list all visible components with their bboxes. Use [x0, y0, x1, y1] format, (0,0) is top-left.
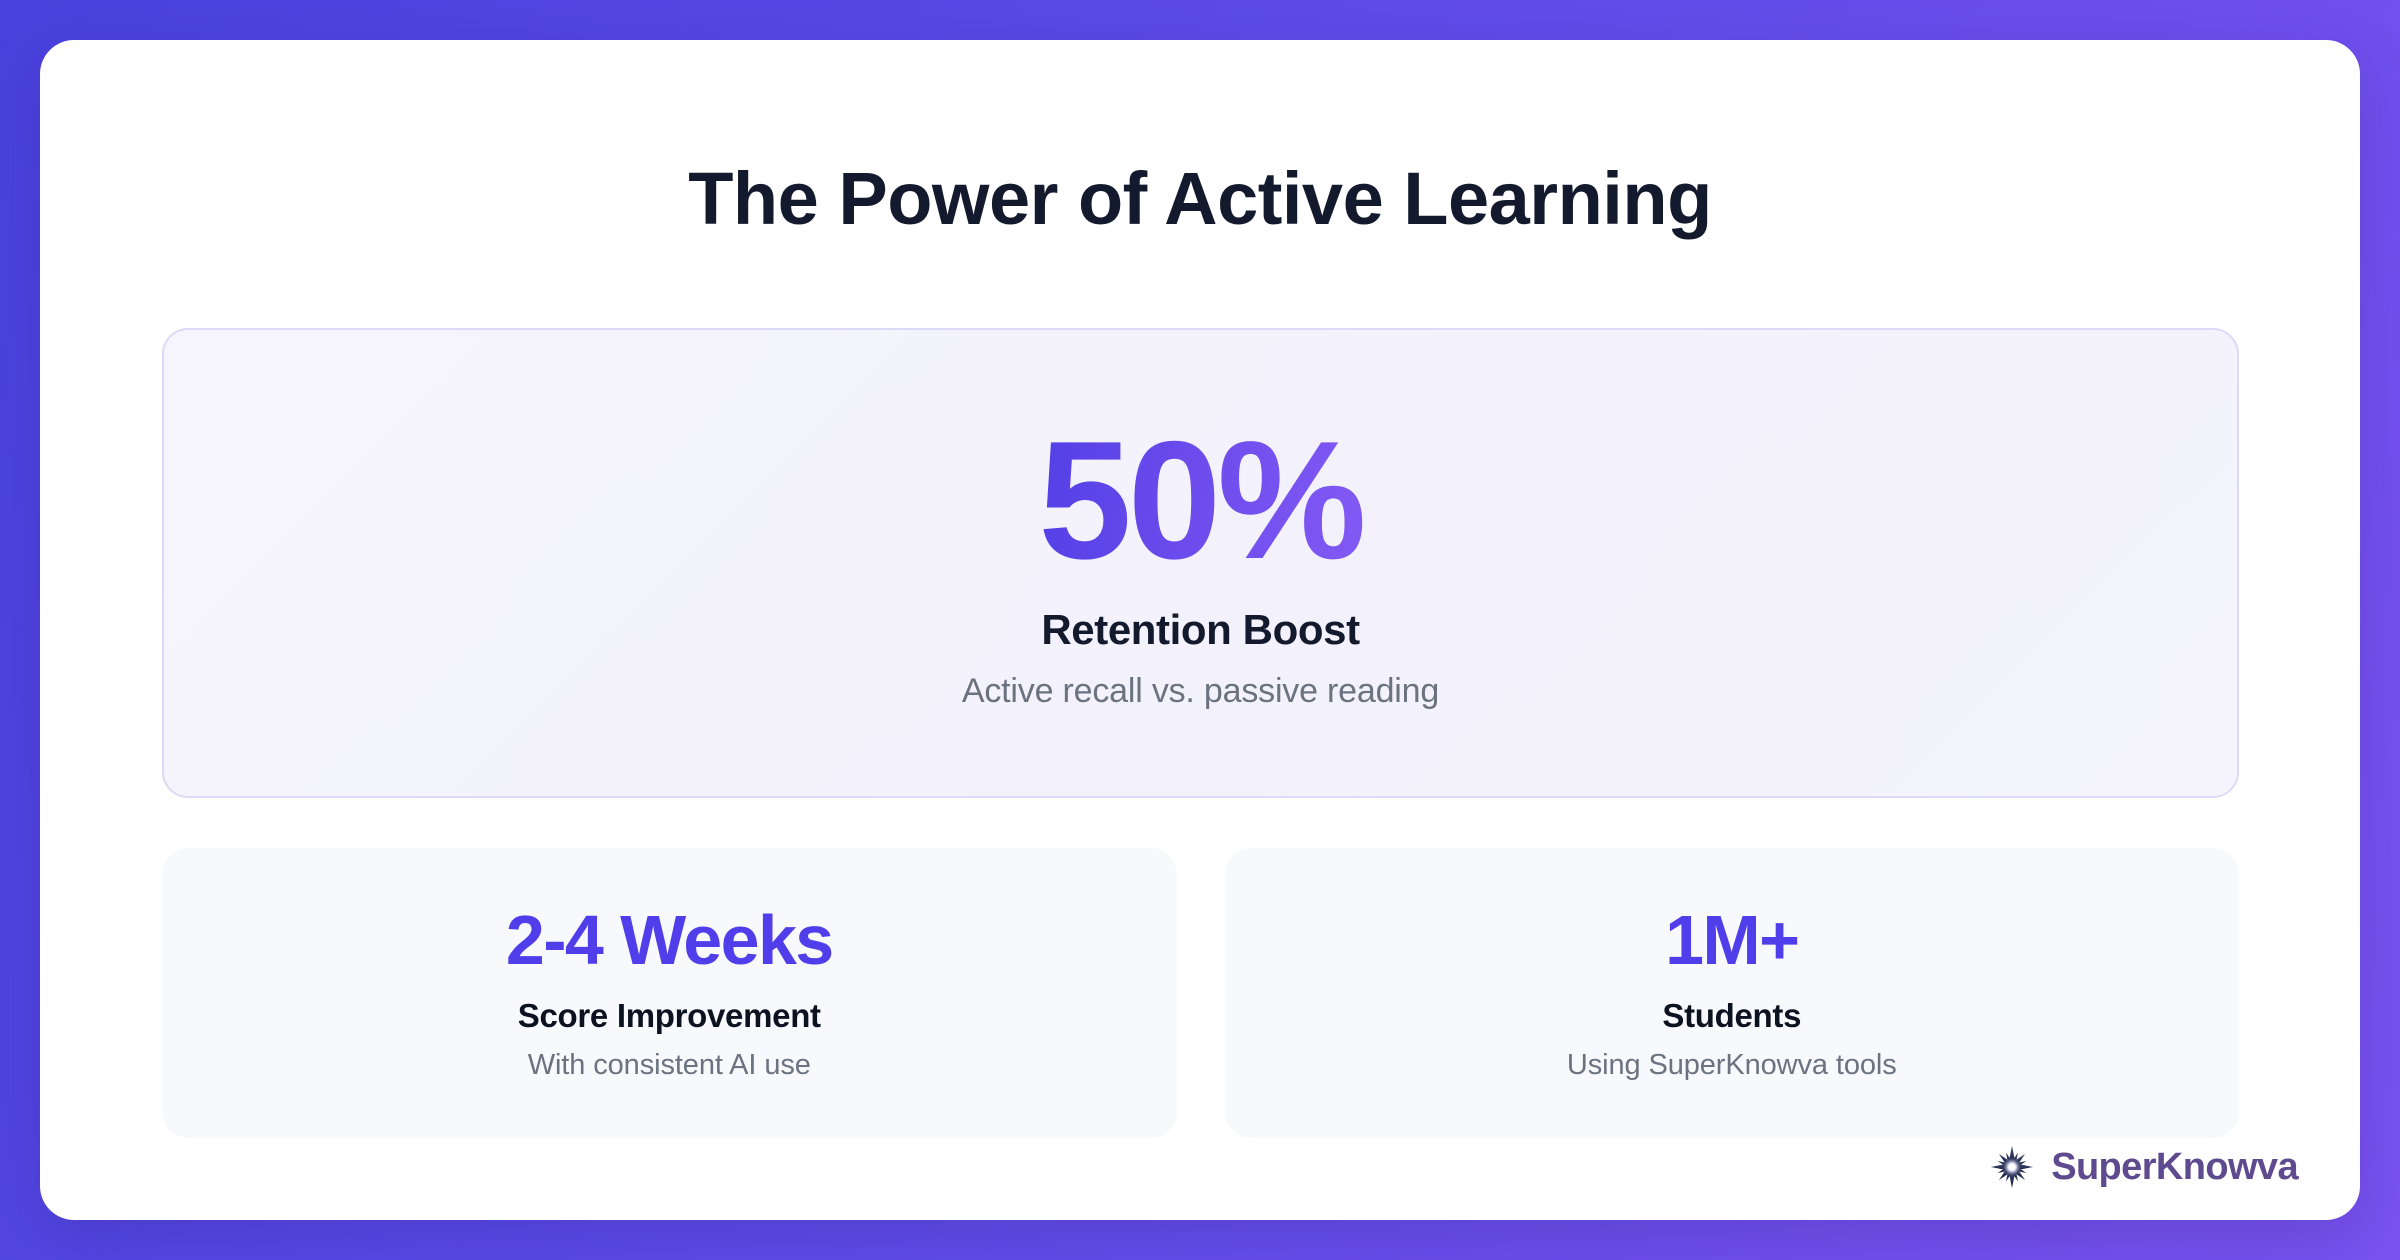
stat-label: Students — [1662, 997, 1801, 1035]
page-title: The Power of Active Learning — [40, 160, 2360, 238]
secondary-stat-row: 2-4 Weeks Score Improvement With consist… — [162, 848, 2239, 1138]
stat-value: 1M+ — [1665, 905, 1798, 975]
hero-stat-sublabel: Active recall vs. passive reading — [962, 672, 1439, 711]
stat-value: 2-4 Weeks — [506, 905, 833, 975]
content-panel: The Power of Active Learning 50% Retenti… — [40, 40, 2360, 1220]
stat-sublabel: With consistent AI use — [528, 1049, 811, 1082]
brand-name: SuperKnowva — [2051, 1146, 2298, 1189]
stat-label: Score Improvement — [518, 997, 821, 1035]
brand-lockup: SuperKnowva — [1989, 1144, 2298, 1190]
stat-sublabel: Using SuperKnowva tools — [1567, 1049, 1897, 1082]
stat-card-score-improvement: 2-4 Weeks Score Improvement With consist… — [162, 848, 1177, 1138]
hero-stat-value: 50% — [1038, 416, 1362, 584]
stat-card-students: 1M+ Students Using SuperKnowva tools — [1225, 848, 2240, 1138]
starburst-icon — [1989, 1144, 2035, 1190]
hero-stat-card: 50% Retention Boost Active recall vs. pa… — [162, 328, 2239, 798]
hero-stat-label: Retention Boost — [1041, 606, 1359, 654]
